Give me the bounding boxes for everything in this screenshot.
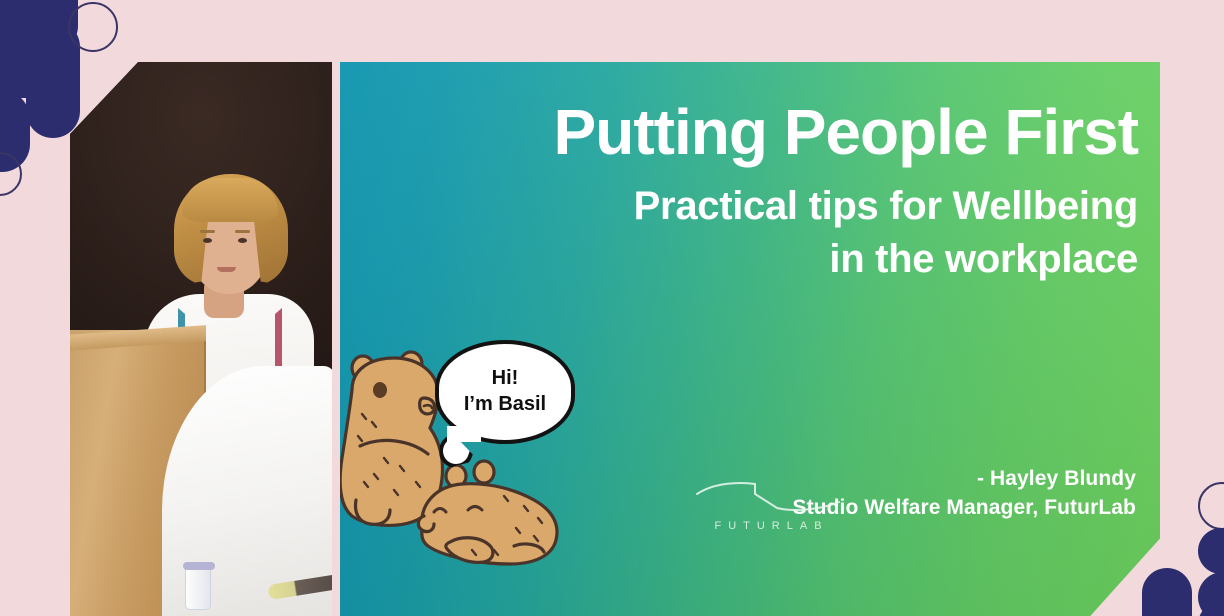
deco-shape-navy-pill-3	[1142, 568, 1192, 616]
speech-line-1: Hi!	[492, 367, 519, 391]
slide-subtitle-line-1: Practical tips for Wellbeing	[438, 180, 1138, 233]
capybara-large-sitting	[340, 352, 442, 525]
speech-line-2: I’m Basil	[464, 393, 546, 417]
futurlab-swoosh-icon	[688, 480, 848, 514]
deco-shape-navy-halfcircle-5	[1198, 528, 1224, 574]
speaker-fringe	[182, 178, 278, 222]
water-glass	[185, 566, 211, 610]
slide-subtitle: Practical tips for Wellbeing in the work…	[438, 180, 1138, 286]
slide-subtitle-line-2: in the workplace	[438, 233, 1138, 286]
presenter-video-panel[interactable]	[70, 62, 332, 616]
speech-bubble: Hi! I’m Basil	[435, 340, 575, 444]
speaker-eyebrow-left	[200, 230, 215, 233]
speaker-eyebrow-right	[235, 230, 250, 233]
speaker-eye-right	[238, 238, 247, 243]
futurlab-logo: FUTURLAB	[688, 480, 848, 532]
slide-title: Putting People First	[438, 100, 1138, 164]
deco-shape-circle-outline-3	[1198, 482, 1224, 530]
slide-heading-block: Putting People First Practical tips for …	[438, 100, 1138, 286]
speaker-eye-left	[203, 238, 212, 243]
futurlab-wordmark: FUTURLAB	[688, 520, 848, 532]
presentation-slide[interactable]: Putting People First Practical tips for …	[340, 62, 1160, 616]
speaker-mouth	[217, 267, 236, 272]
deco-shape-circle-outline-1	[68, 2, 118, 52]
speech-bubble-text: Hi! I’m Basil	[435, 340, 575, 444]
